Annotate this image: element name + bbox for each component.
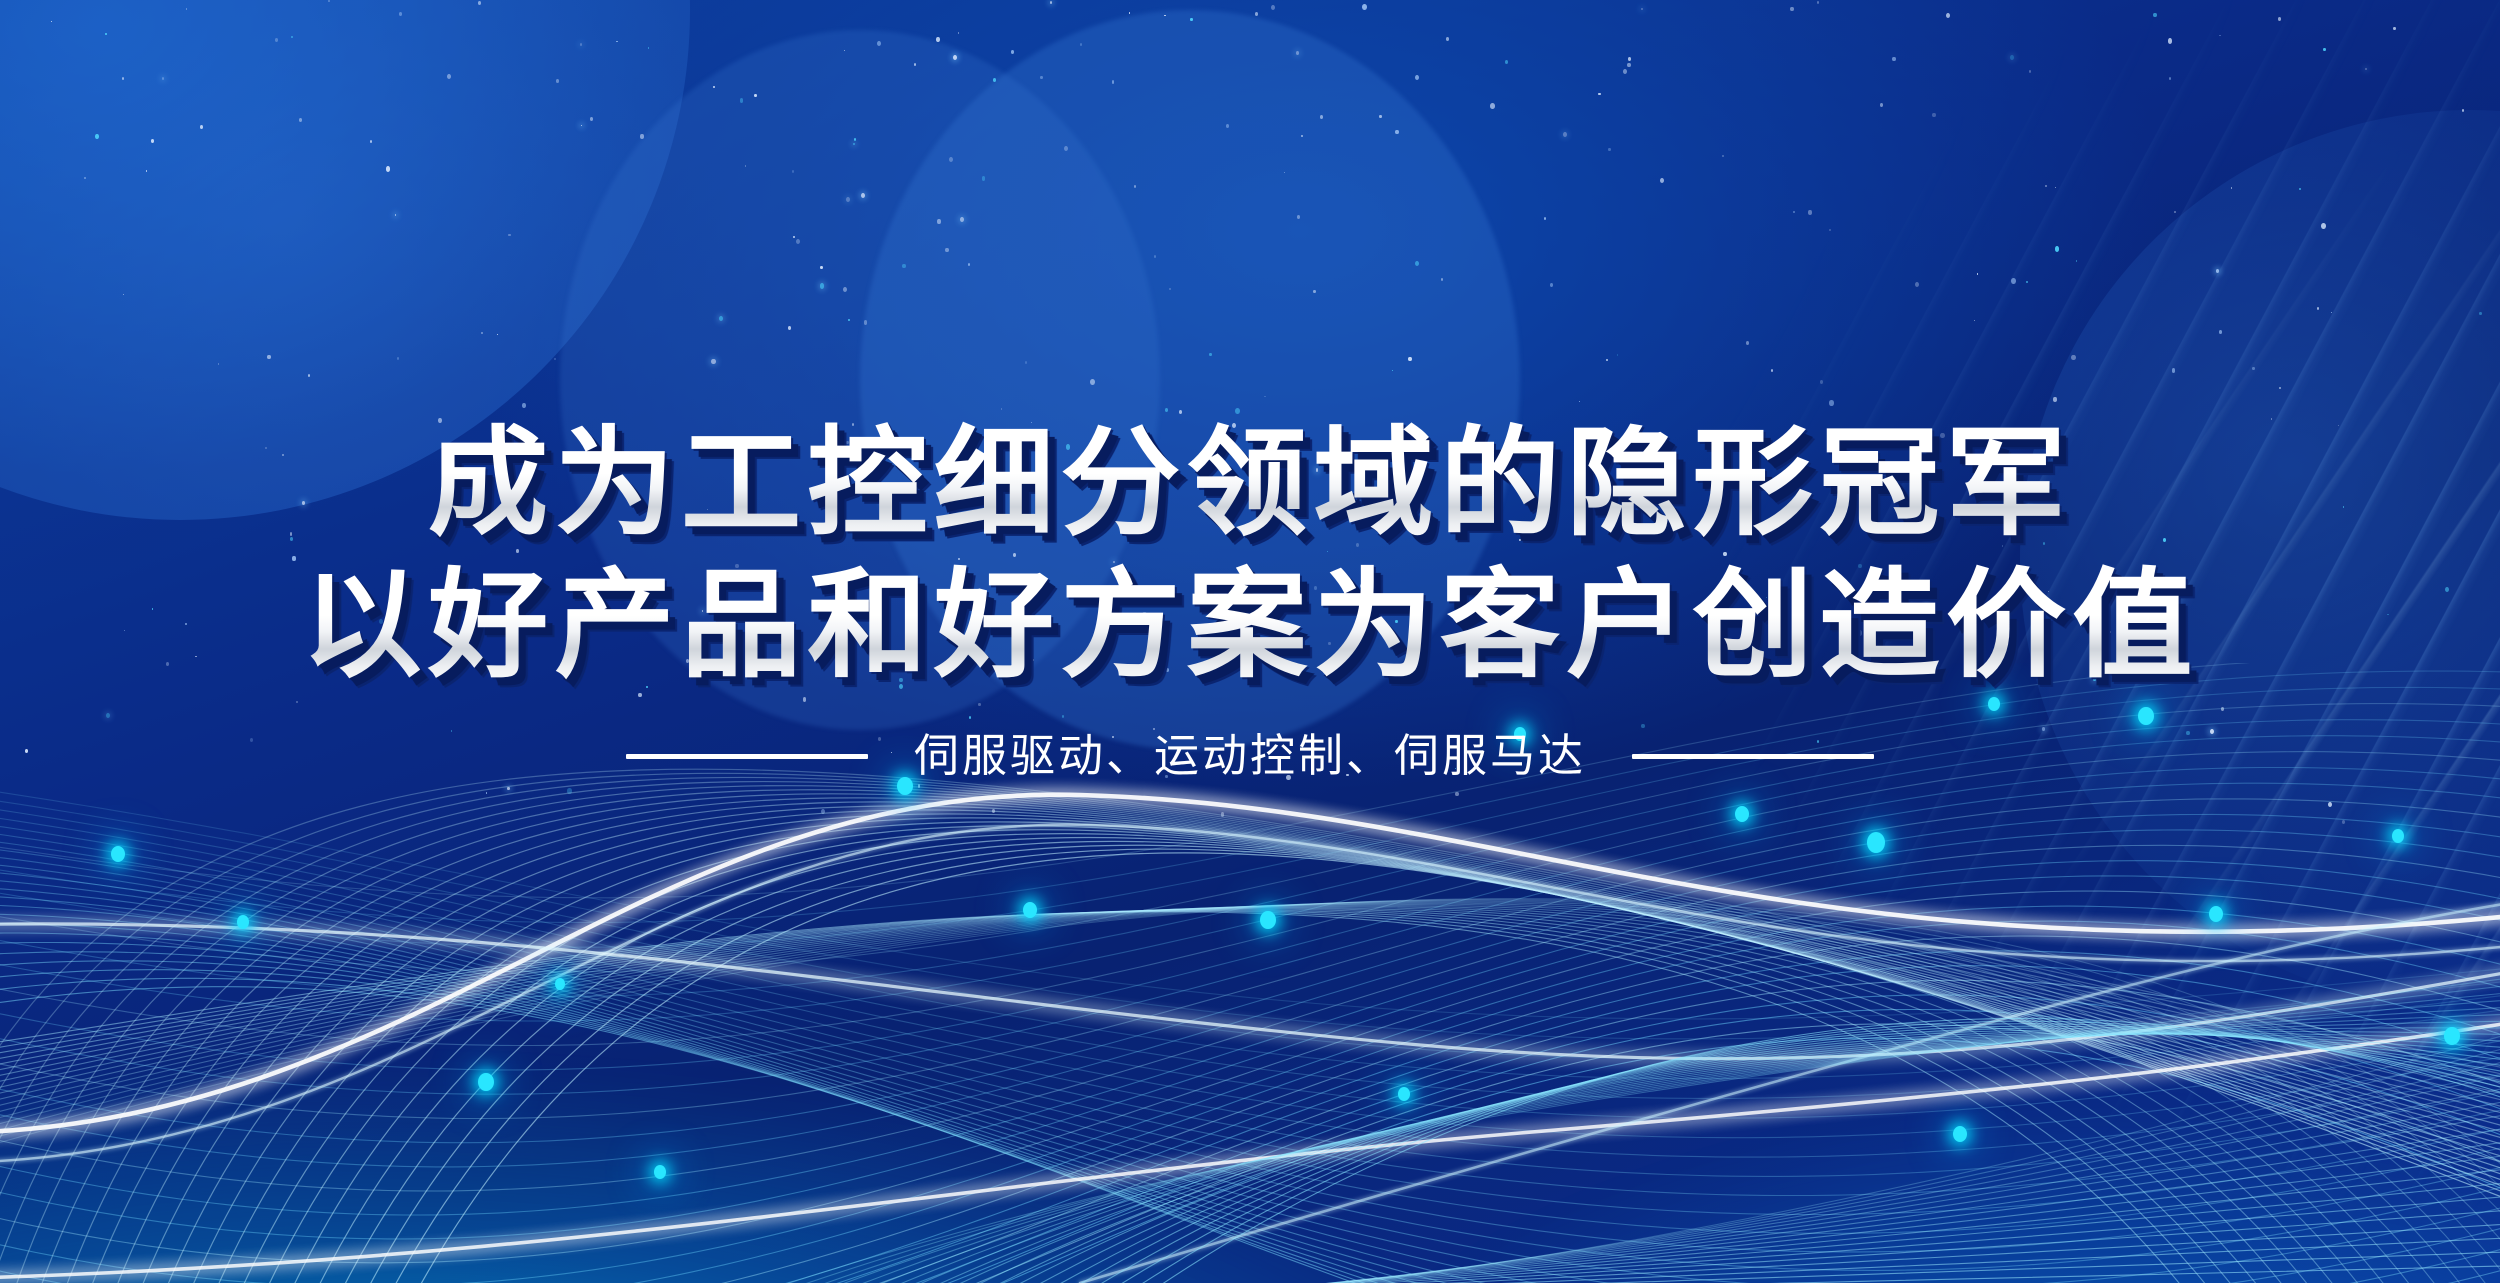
right-rule [1632,754,1874,759]
wave-line [548,1156,2500,1283]
wave-line [375,849,2500,1283]
wave-line [811,1010,2500,1283]
headline-line-2: 以好产品和好方案为客户创造价值 [0,562,2500,690]
banner-content: 成为工控细分领域的隐形冠军 以好产品和好方案为客户创造价值 伺服驱动、运动控制、… [0,420,2500,784]
wave-line [0,911,2235,1283]
glow-dot [654,1165,666,1179]
promo-banner: 成为工控细分领域的隐形冠军 以好产品和好方案为客户创造价值 伺服驱动、运动控制、… [0,0,2500,1283]
wave-line [202,822,2500,1283]
glow-dot [1735,806,1749,822]
subtitle-text: 伺服驱动、运动控制、伺服马达 [914,728,1586,784]
glow-dot [1023,902,1037,918]
wave-line [921,1034,2500,1283]
headline-line-1: 成为工控细分领域的隐形冠军 [0,420,2500,548]
wave-line [0,814,2500,1142]
wave-line [1080,895,2500,1283]
glow-dot [1398,1087,1410,1101]
subtitle-row: 伺服驱动、运动控制、伺服马达 [0,728,2500,784]
glow-dot [555,978,565,990]
wave-line [0,907,2387,1283]
glow-dot [1953,1126,1967,1142]
wave-line [965,1033,2500,1283]
left-rule [626,754,868,759]
wave-line [0,900,2500,1283]
glow-dot [111,846,125,862]
glow-dot [2209,906,2223,922]
glow-dot [2392,829,2404,843]
wave-line [718,1034,2500,1283]
glow-dot [1867,832,1885,853]
glow-dot [237,915,249,929]
wave-line [227,826,2500,1283]
